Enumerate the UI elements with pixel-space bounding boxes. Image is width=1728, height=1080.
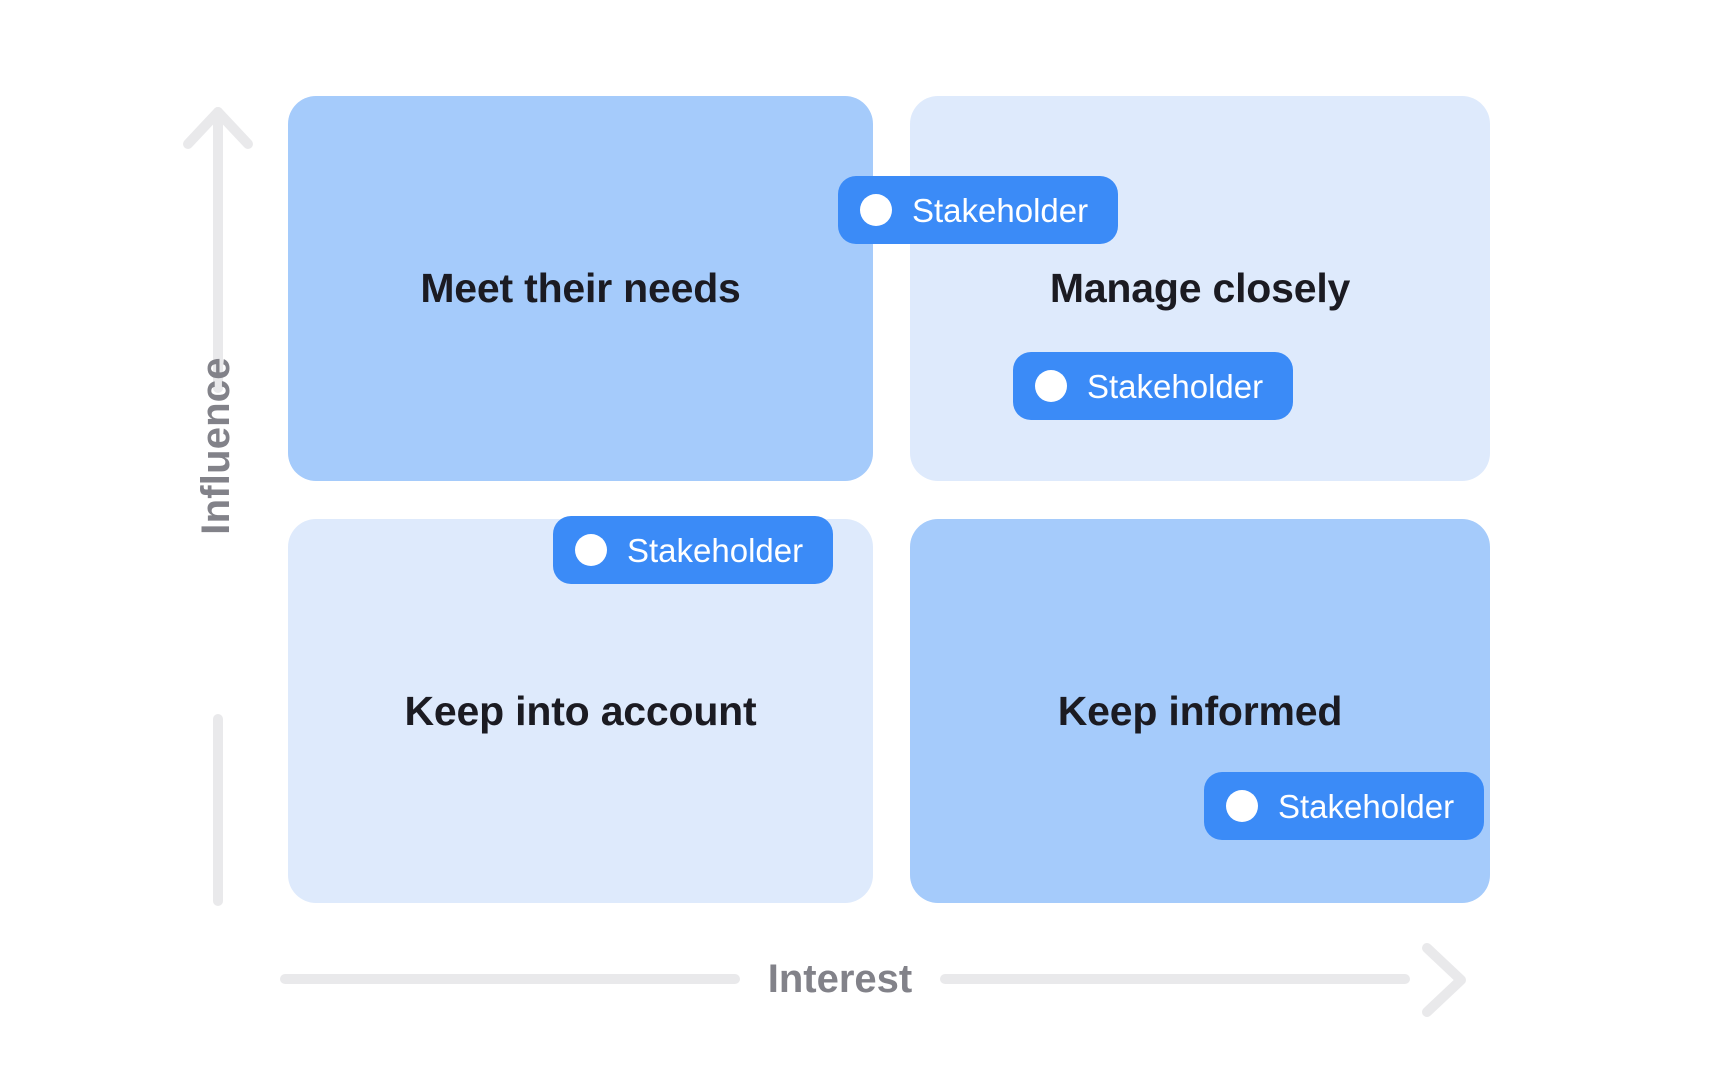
stakeholder-label: Stakeholder (627, 534, 803, 567)
stakeholder-pill[interactable]: Stakeholder (1013, 352, 1293, 420)
stakeholder-pill[interactable]: Stakeholder (1204, 772, 1484, 840)
interest-axis-label: Interest (720, 946, 960, 1012)
arrow-right-icon (1385, 940, 1495, 1040)
quadrant-title: Meet their needs (420, 265, 740, 312)
stakeholder-pill[interactable]: Stakeholder (838, 176, 1118, 244)
influence-axis: Influence (176, 96, 256, 906)
stakeholder-dot-icon (1035, 370, 1067, 402)
quadrant-keep-informed[interactable]: Keep informed (910, 519, 1490, 903)
stakeholder-dot-icon (1226, 790, 1258, 822)
stakeholder-dot-icon (860, 194, 892, 226)
stakeholder-label: Stakeholder (912, 194, 1088, 227)
quadrant-title: Keep into account (405, 688, 757, 735)
stakeholder-pill[interactable]: Stakeholder (553, 516, 833, 584)
influence-axis-label: Influence (196, 357, 236, 534)
stakeholder-label: Stakeholder (1278, 790, 1454, 823)
quadrant-title: Keep informed (1058, 688, 1342, 735)
stakeholder-dot-icon (575, 534, 607, 566)
stakeholder-matrix-canvas: Influence Meet their needs Manage closel… (0, 0, 1728, 1080)
interest-axis: Interest (280, 946, 1490, 1016)
interest-axis-right-line (940, 974, 1410, 984)
stakeholder-label: Stakeholder (1087, 370, 1263, 403)
quadrant-manage-closely[interactable]: Manage closely (910, 96, 1490, 481)
quadrant-meet-their-needs[interactable]: Meet their needs (288, 96, 873, 481)
influence-axis-tail-line (213, 714, 223, 906)
quadrant-title: Manage closely (1050, 265, 1350, 312)
arrow-up-icon (176, 96, 256, 396)
interest-axis-left-line (280, 974, 740, 984)
